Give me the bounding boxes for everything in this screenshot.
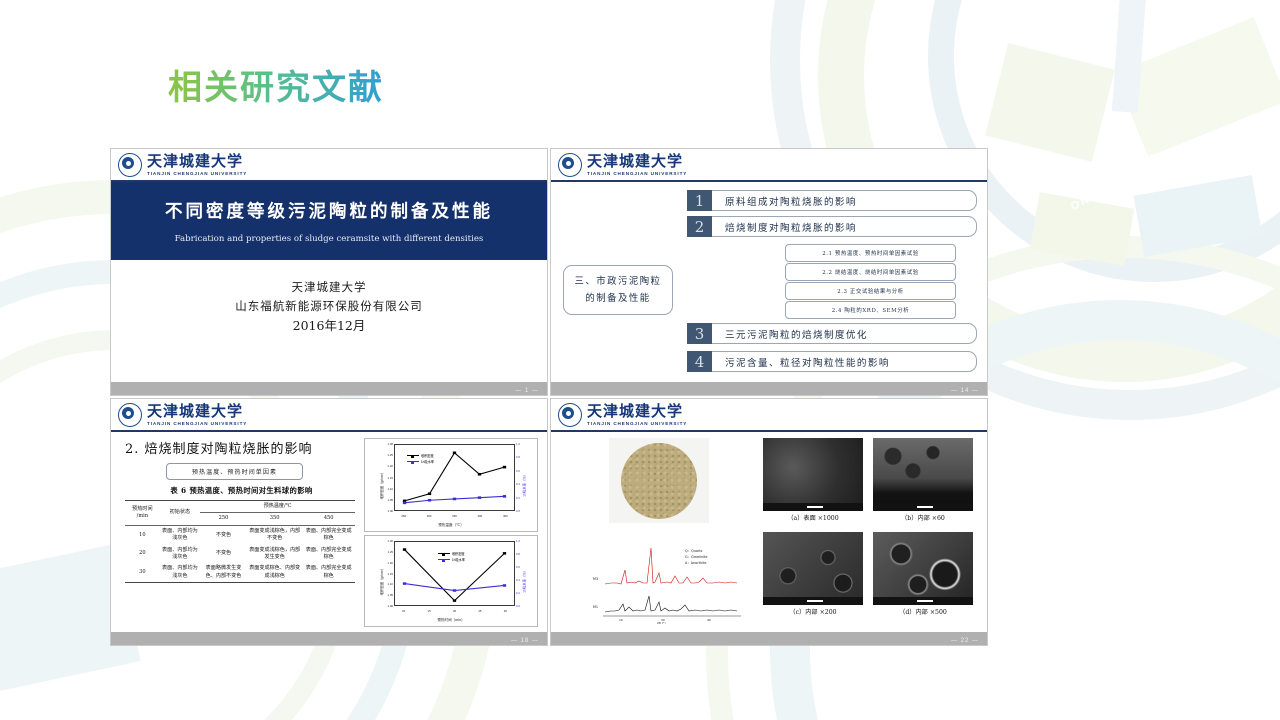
slide-page-number: — 18 — [511,638,539,644]
table-header-350: 350 [247,513,302,525]
slide-thumbnail-photos[interactable]: 天津城建大学 TIANJIN CHENGJIAN UNIVERSITY Q：Qu… [550,398,988,646]
chart1-y2ticks: 0.0 0.2 0.4 0.6 0.8 1.0 [516,444,531,511]
cell-time: 20 [125,545,160,564]
logo-name-en: TIANJIN CHENGJIAN UNIVERSITY [587,421,687,426]
page-title: 相关研究文献 [168,60,384,109]
sem-caption-a: （a）表面 ×1000 [763,513,863,522]
y2tick: 0.8 [516,552,520,556]
xtick: 25 [478,609,481,613]
cell-initial: 表面、内部均为浅灰色 [160,563,200,582]
legend-swatch-density [407,455,419,456]
cell-time: 30 [125,563,160,582]
agenda-section-label-line2: 的制备及性能 [585,290,650,307]
decor-segment [985,43,1115,162]
table-caption: 表 6 预热温度、预热时间对生料球的影响 [129,486,354,496]
slide-thumbnail-agenda[interactable]: 天津城建大学 TIANJIN CHENGJIAN UNIVERSITY 三、市政… [550,148,988,396]
agenda-item-4[interactable]: 4 污泥含量、粒径对陶粒性能的影响 [687,351,977,372]
slide-header: 天津城建大学 TIANJIN CHENGJIAN UNIVERSITY [551,399,987,432]
sem-scale-bar [763,597,863,605]
university-logo: 天津城建大学 TIANJIN CHENGJIAN UNIVERSITY [558,403,687,427]
agenda-item-label: 污泥含量、粒径对陶粒性能的影响 [712,351,977,372]
sem-caption-d: （d）内部 ×500 [873,607,973,616]
agenda-subitem-2-2[interactable]: 2.2 烧结温度、烧结时间单因素试验 [785,263,956,281]
legend-swatch-density [438,553,450,554]
decor-segment [1134,175,1263,257]
agenda-item-1[interactable]: 1 原料组成对陶粒烧胀的影响 [687,190,977,211]
ceramsite-pellets [621,443,697,519]
logo-name-cn: 天津城建大学 [587,404,687,419]
cell-450: 表面、内部完全变成棕色 [302,525,355,544]
slide-page-number: — 14 — [951,388,979,394]
agenda-list: 三、市政污泥陶粒 的制备及性能 1 原料组成对陶粒烧胀的影响 2 焙烧制度对陶粒… [551,182,987,381]
xtick: 10 [402,609,405,613]
xrd-trace-m1 [605,596,737,612]
agenda-section-label: 三、市政污泥陶粒 的制备及性能 [563,265,673,315]
xtick: 250 [401,514,406,518]
ytick: 1.25 [388,550,393,554]
decor-ring-word-two: TWO [1138,150,1171,165]
ytick: 1.20 [388,464,393,468]
svg-text:40: 40 [707,618,711,622]
university-logo: 天津城建大学 TIANJIN CHENGJIAN UNIVERSITY [118,403,247,427]
subtopic-pill: 预热温度、预热时间单因素 [166,463,303,480]
chart-preheat-temperature: 堆积密度（g/cm³） 1h吸水率（%） 预热温度（℃） 1.00 1.05 1… [364,438,538,532]
agenda-subitem-2-1[interactable]: 2.1 预热温度、预热时间单因素试验 [785,244,956,262]
cell-initial: 表面、内部均为浅灰色 [160,525,200,544]
slide-thumbnail-table-charts[interactable]: 天津城建大学 TIANJIN CHENGJIAN UNIVERSITY 2. 焙… [110,398,548,646]
cell-350: 表面变成浅棕色，内部不变色 [247,525,302,544]
sem-caption-b: （b）内部 ×60 [873,513,973,522]
cover-title-band: 不同密度等级污泥陶粒的制备及性能 Fabrication and propert… [111,182,547,260]
ytick: 1.00 [388,509,393,513]
chart2-y2ticks: 0.0 0.2 0.4 0.6 0.8 1.0 [516,541,531,606]
agenda-item-number: 3 [687,323,712,344]
logo-name-cn: 天津城建大学 [147,154,247,169]
slide-body: 不同密度等级污泥陶粒的制备及性能 Fabrication and propert… [111,182,547,381]
university-seal-icon [118,403,142,427]
chart2-yticks: 1.00 1.05 1.10 1.15 1.20 1.25 1.30 [378,541,393,606]
chart2-xticks: 10 15 20 25 30 [394,609,515,615]
xrd-plot: Q：Quartz G：Gmelinite A：Anorthite M3 M1 1… [589,528,749,624]
university-seal-icon [558,153,582,177]
agenda-item-number: 1 [687,190,712,211]
ytick: 1.15 [388,572,393,576]
slide-page-number: — 1 — [515,388,539,394]
xtick: 400 [478,514,483,518]
xrd-legend-a: A：Anorthite [685,561,706,565]
cover-author-line-1: 天津城建大学 [111,278,547,297]
agenda-item-number: 4 [687,351,712,372]
agenda-section-label-line1: 三、市政污泥陶粒 [574,273,661,290]
decor-segment [1112,0,1146,113]
ytick: 1.05 [388,498,393,502]
cell-250: 不变色 [200,525,247,544]
preheat-effects-table: 预热时间 /min 初始状态 预热温度/℃ 250 350 450 10 表面、… [125,500,355,583]
chart2-xlabel: 预热时间（min） [365,618,537,623]
sem-scale-bar [763,503,863,511]
university-seal-icon [558,403,582,427]
ytick: 1.25 [388,453,393,457]
cell-450: 表面、内部完全变成棕色 [302,545,355,564]
legend-swatch-absorption [407,461,419,462]
xtick: 20 [453,609,456,613]
ytick: 1.15 [388,476,393,480]
sem-image-interior-200x [763,532,863,605]
xtick: 300 [427,514,432,518]
ytick: 1.10 [388,487,393,491]
agenda-item-label: 三元污泥陶粒的焙烧制度优化 [712,323,977,344]
xrd-trace-m3 [605,548,737,584]
slide-footer: — 1 — [111,382,547,395]
agenda-item-label: 原料组成对陶粒烧胀的影响 [712,190,977,211]
y2tick: 0.4 [516,578,520,582]
slide-body: 2. 焙烧制度对陶粒烧胀的影响 预热温度、预热时间单因素 表 6 预热温度、预热… [111,432,547,631]
table-header-temp-span: 预热温度/℃ [200,501,355,513]
y2tick: 0.6 [516,469,520,473]
slide-heading: 2. 焙烧制度对陶粒烧胀的影响 [125,438,313,457]
svg-text:2θ (°): 2θ (°) [657,621,666,624]
chart1-yticks: 1.00 1.05 1.10 1.15 1.20 1.25 1.30 [378,444,393,511]
legend-label-absorption: 1h吸水率 [452,557,465,563]
slide-footer: — 22 — [551,632,987,645]
slide-grid: 天津城建大学 TIANJIN CHENGJIAN UNIVERSITY 不同密度… [110,148,988,650]
table-header-250: 250 [200,513,247,525]
agenda-item-number: 2 [687,216,712,237]
y2tick: 1.0 [516,442,520,446]
slide-page-number: — 22 — [951,638,979,644]
y2tick: 0.2 [516,496,520,500]
agenda-item-2[interactable]: 2 焙烧制度对陶粒烧胀的影响 [687,216,977,237]
university-seal-icon [118,153,142,177]
slide-header: 天津城建大学 TIANJIN CHENGJIAN UNIVERSITY [551,149,987,182]
cover-title-en: Fabrication and properties of sludge cer… [111,234,547,244]
ytick: 1.05 [388,593,393,597]
logo-name-cn: 天津城建大学 [147,404,247,419]
legend-label-absorption: 1h吸水率 [421,459,434,465]
decor-segment [1115,17,1280,157]
table-header-initial: 初始状态 [160,501,200,526]
slide-body: 三、市政污泥陶粒 的制备及性能 1 原料组成对陶粒烧胀的影响 2 焙烧制度对陶粒… [551,182,987,381]
slide-footer: — 18 — [111,632,547,645]
sem-image-interior-500x [873,532,973,605]
chart1-xlabel: 预热温度（℃） [365,523,537,528]
cell-time: 10 [125,525,160,544]
xrd-trace-label-m1: M1 [593,605,598,609]
slide-header: 天津城建大学 TIANJIN CHENGJIAN UNIVERSITY [111,399,547,432]
xrd-legend-q: Q：Quartz [685,549,703,553]
agenda-item-3[interactable]: 3 三元污泥陶粒的焙烧制度优化 [687,323,977,344]
sem-scale-bar [873,597,973,605]
legend-swatch-absorption [438,559,450,560]
chart2-legend: 堆积密度 1h吸水率 [438,551,465,563]
xtick: 30 [504,609,507,613]
cover-title-cn: 不同密度等级污泥陶粒的制备及性能 [111,182,547,223]
table-row: 30 表面、内部均为浅灰色 表面略微发生变色、内部不变色 表面变成棕色、内部变成… [125,563,355,582]
decor-segment [1030,192,1135,266]
cell-450: 表面、内部完全变成棕色 [302,563,355,582]
y2tick: 0.4 [516,482,520,486]
sem-caption-c: （c）内部 ×200 [763,607,863,616]
logo-name-en: TIANJIN CHENGJIAN UNIVERSITY [147,421,247,426]
agenda-subitem-2-4[interactable]: 2.4 陶粒的XRD、SEM分析 [785,301,956,319]
slide-body: Q：Quartz G：Gmelinite A：Anorthite M3 M1 1… [551,432,987,631]
ytick: 1.20 [388,561,393,565]
sem-image-interior-60x [873,438,973,511]
xtick: 15 [428,609,431,613]
slide-header: 天津城建大学 TIANJIN CHENGJIAN UNIVERSITY [111,149,547,182]
table-row: 10 表面、内部均为浅灰色 不变色 表面变成浅棕色，内部不变色 表面、内部完全变… [125,525,355,544]
cell-350: 表面变成浅棕色，内部发生变色 [247,545,302,564]
y2tick: 0.0 [516,509,520,513]
chart-preheat-time: 堆积密度（g/cm³） 1h吸水率（%） 预热时间（min） 1.00 1.05… [364,535,538,627]
y2tick: 0.6 [516,565,520,569]
cell-250: 表面略微发生变色、内部不变色 [200,563,247,582]
cell-initial: 表面、内部均为浅灰色 [160,545,200,564]
cover-author-line-2: 山东福航新能源环保股份有限公司 [111,297,547,316]
y2tick: 0.0 [516,604,520,608]
slide-thumbnail-cover[interactable]: 天津城建大学 TIANJIN CHENGJIAN UNIVERSITY 不同密度… [110,148,548,396]
cover-date: 2016年12月 [111,316,547,335]
svg-text:10: 10 [619,618,623,622]
slide-footer: — 14 — [551,382,987,395]
y2tick: 1.0 [516,539,520,543]
university-logo: 天津城建大学 TIANJIN CHENGJIAN UNIVERSITY [118,153,247,177]
chart1-plot-area: 堆积密度 1h吸水率 [394,444,515,511]
xtick: 350 [452,514,457,518]
y2tick: 0.2 [516,591,520,595]
sem-image-surface-1000x [763,438,863,511]
ytick: 1.30 [388,539,393,543]
table-header-450: 450 [302,513,355,525]
logo-name-en: TIANJIN CHENGJIAN UNIVERSITY [147,171,247,176]
decor-ring-word-three: THREE [1214,148,1263,174]
chart1-xticks: 250 300 350 400 450 [394,514,515,520]
ytick: 1.10 [388,582,393,586]
cell-350: 表面变成棕色、内部变成浅棕色 [247,563,302,582]
cell-250: 不变色 [200,545,247,564]
xrd-pattern-chart: Q：Quartz G：Gmelinite A：Anorthite M3 M1 1… [589,528,749,624]
cover-authors: 天津城建大学 山东福航新能源环保股份有限公司 2016年12月 [111,278,547,335]
sem-scale-bar [873,503,973,511]
ytick: 1.00 [388,604,393,608]
university-logo: 天津城建大学 TIANJIN CHENGJIAN UNIVERSITY [558,153,687,177]
chart2-plot-area: 堆积密度 1h吸水率 [394,541,515,606]
xrd-legend-g: G：Gmelinite [685,555,707,559]
logo-name-cn: 天津城建大学 [587,154,687,169]
table-row: 20 表面、内部均为浅灰色 不变色 表面变成浅棕色，内部发生变色 表面、内部完全… [125,545,355,564]
ceramsite-photo [609,438,709,523]
agenda-item-label: 焙烧制度对陶粒烧胀的影响 [712,216,977,237]
agenda-subitem-2-3[interactable]: 2.3 正交试验结果与分析 [785,282,956,300]
decor-ring-word-one: ONE [1069,189,1101,213]
chart1-legend: 堆积密度 1h吸水率 [407,453,434,465]
y2tick: 0.8 [516,455,520,459]
xtick: 450 [503,514,508,518]
ytick: 1.30 [388,442,393,446]
table-header-time: 预热时间 /min [125,501,160,526]
xrd-trace-label-m3: M3 [593,577,598,581]
logo-name-en: TIANJIN CHENGJIAN UNIVERSITY [587,171,687,176]
